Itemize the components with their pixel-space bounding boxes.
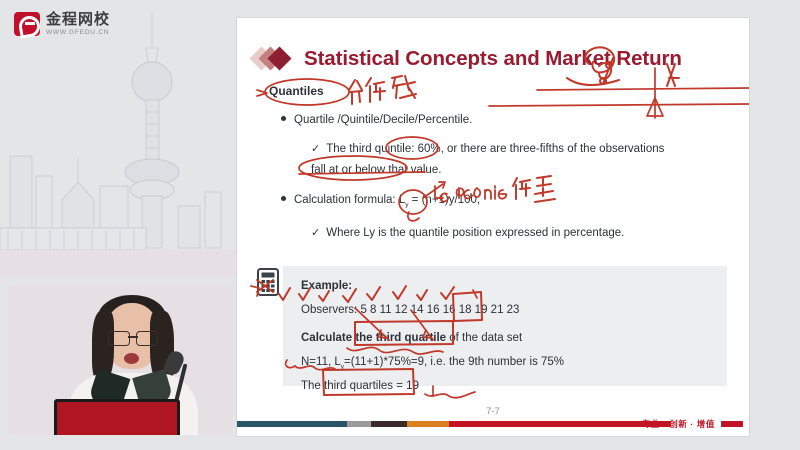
section-heading-quantiles: Quantiles — [269, 84, 324, 98]
page-title: Statistical Concepts and Market Return — [304, 47, 682, 71]
bullet-third-quintile: ✓The third quintile: 60%, or there are t… — [311, 142, 664, 155]
bullet-dot-icon — [281, 116, 286, 121]
brand-name-cn: 金程网校 — [46, 12, 110, 27]
video-player-stage: 金程网校 WWW.GFEDU.CN Statistical Concepts a… — [0, 0, 800, 450]
brand-logo-text: 金程网校 WWW.GFEDU.CN — [46, 12, 110, 37]
example-task: Calculate the third quartile of the data… — [301, 332, 522, 344]
slide-title-row: Statistical Concepts and Market Return — [253, 46, 682, 72]
presenter-glasses — [108, 331, 158, 344]
footer-slogan: 专业 · 创新 · 增值 — [642, 418, 715, 430]
skyline-svg — [0, 0, 240, 300]
presenter-mouth — [124, 353, 139, 364]
check-mark-icon: ✓ — [311, 143, 320, 155]
slide-page-number: 7-7 — [237, 406, 749, 417]
diamond-bullet-icon — [253, 46, 295, 72]
presentation-slide: Statistical Concepts and Market Return Q… — [237, 18, 749, 436]
calculator-icon — [257, 268, 279, 296]
gfedu-g-mark-icon — [14, 12, 40, 36]
check-mark-icon-2: ✓ — [311, 227, 320, 239]
example-answer: The third quartiles = 19 — [301, 380, 419, 392]
example-calculation: N=11, Ly=(11+1)*75%=9, i.e. the 9th numb… — [301, 356, 564, 370]
bullet-third-quintile-cont: fall at or below that value. — [311, 164, 441, 176]
bullet-quartile-types: Quartile /Quintile/Decile/Percentile. — [281, 114, 472, 126]
instructor-video-inset[interactable] — [8, 285, 233, 435]
example-observers: Observers: 5 8 11 12 14 16 16 18 19 21 2… — [301, 304, 519, 316]
example-heading: Example: — [301, 280, 352, 292]
bullet-ly-definition: ✓Where Ly is the quantile position expre… — [311, 226, 624, 239]
presenter-laptop — [54, 399, 180, 435]
footer-accent-bar — [721, 421, 743, 427]
bullet-dot-icon-2 — [281, 196, 286, 201]
brand-url: WWW.GFEDU.CN — [46, 30, 110, 37]
brand-logo: 金程网校 WWW.GFEDU.CN — [14, 12, 110, 37]
skyline-background-illustration — [0, 0, 240, 300]
bullet-calculation-formula: Calculation formula: Ly = (n+1)y/100, — [281, 194, 480, 208]
